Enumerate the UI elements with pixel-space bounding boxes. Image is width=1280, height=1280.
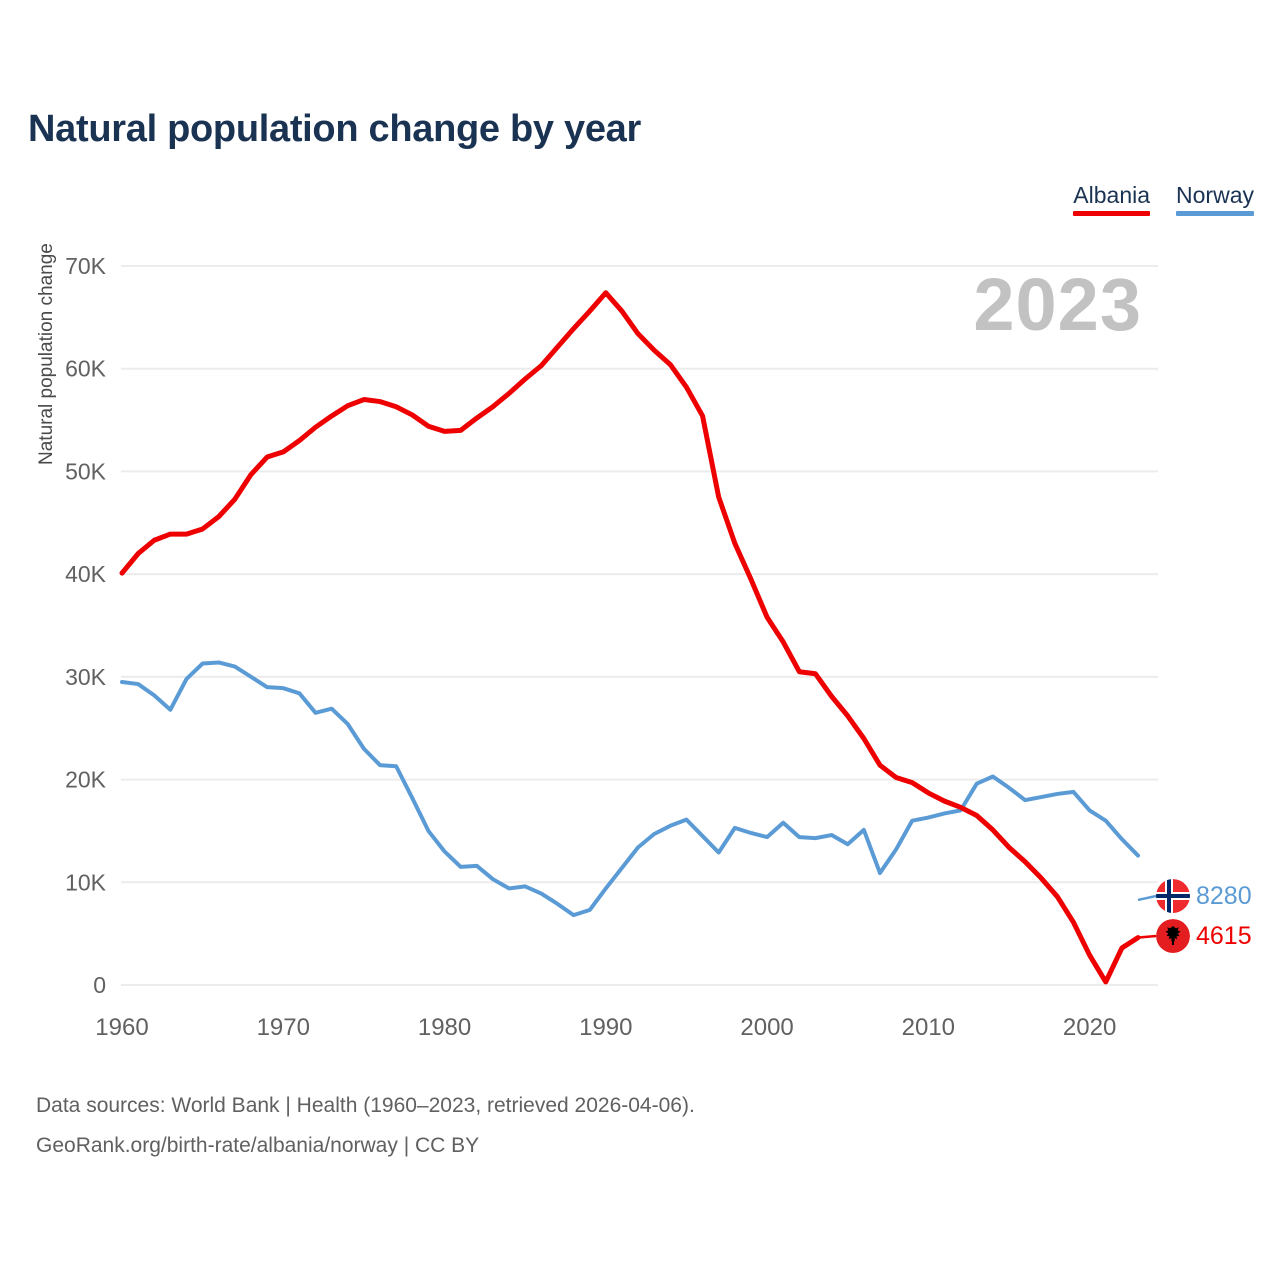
footer: Data sources: World Bank | Health (1960–…	[36, 1086, 695, 1166]
y-axis-title: Natural population change	[36, 145, 58, 465]
chart-page: Natural population change by year Albani…	[0, 0, 1280, 1280]
series-line-albania	[122, 293, 1138, 982]
x-tick-labels: 1960197019801990200020102020	[95, 1014, 1116, 1041]
footer-line-2: GeoRank.org/birth-rate/albania/norway | …	[36, 1126, 695, 1166]
page-title: Natural population change by year	[28, 108, 641, 151]
legend-rule-norway	[1176, 211, 1254, 216]
y-tick-label: 0	[93, 972, 106, 998]
legend-label-norway: Norway	[1176, 182, 1254, 209]
end-label-connector	[1138, 936, 1156, 938]
end-label-albania[interactable]: 4615	[1156, 919, 1252, 953]
norway-flag-icon	[1156, 879, 1190, 913]
x-tick-label: 1990	[579, 1014, 632, 1041]
gridlines	[121, 266, 1158, 985]
legend-rule-albania	[1073, 211, 1150, 216]
albania-flag-icon	[1156, 919, 1190, 953]
y-tick-label: 40K	[65, 561, 107, 587]
x-tick-label: 2000	[740, 1014, 793, 1041]
y-tick-label: 10K	[65, 869, 107, 895]
footer-line-1: Data sources: World Bank | Health (1960–…	[36, 1086, 695, 1126]
legend: Albania Norway	[1073, 182, 1254, 216]
legend-item-norway[interactable]: Norway	[1176, 182, 1254, 216]
end-label-connector	[1138, 896, 1156, 900]
y-tick-labels: 010K20K30K40K50K60K70K	[65, 253, 107, 998]
series-lines	[122, 293, 1138, 982]
legend-item-albania[interactable]: Albania	[1073, 182, 1150, 216]
x-tick-label: 2010	[902, 1014, 955, 1041]
x-tick-label: 1980	[418, 1014, 471, 1041]
x-tick-label: 2020	[1063, 1014, 1116, 1041]
y-tick-label: 30K	[65, 664, 107, 690]
x-tick-label: 1970	[257, 1014, 310, 1041]
end-label-norway-value: 8280	[1196, 884, 1252, 909]
legend-label-albania: Albania	[1073, 182, 1150, 209]
watermark-year: 2023	[973, 268, 1142, 342]
series-line-norway	[122, 662, 1138, 915]
y-tick-label: 20K	[65, 767, 107, 793]
end-label-connectors	[1138, 896, 1156, 938]
x-tick-label: 1960	[95, 1014, 148, 1041]
y-tick-label: 60K	[65, 356, 107, 382]
end-label-norway[interactable]: 8280	[1156, 879, 1252, 913]
y-tick-label: 70K	[65, 253, 107, 279]
end-label-albania-value: 4615	[1196, 924, 1252, 949]
y-tick-label: 50K	[65, 458, 107, 484]
